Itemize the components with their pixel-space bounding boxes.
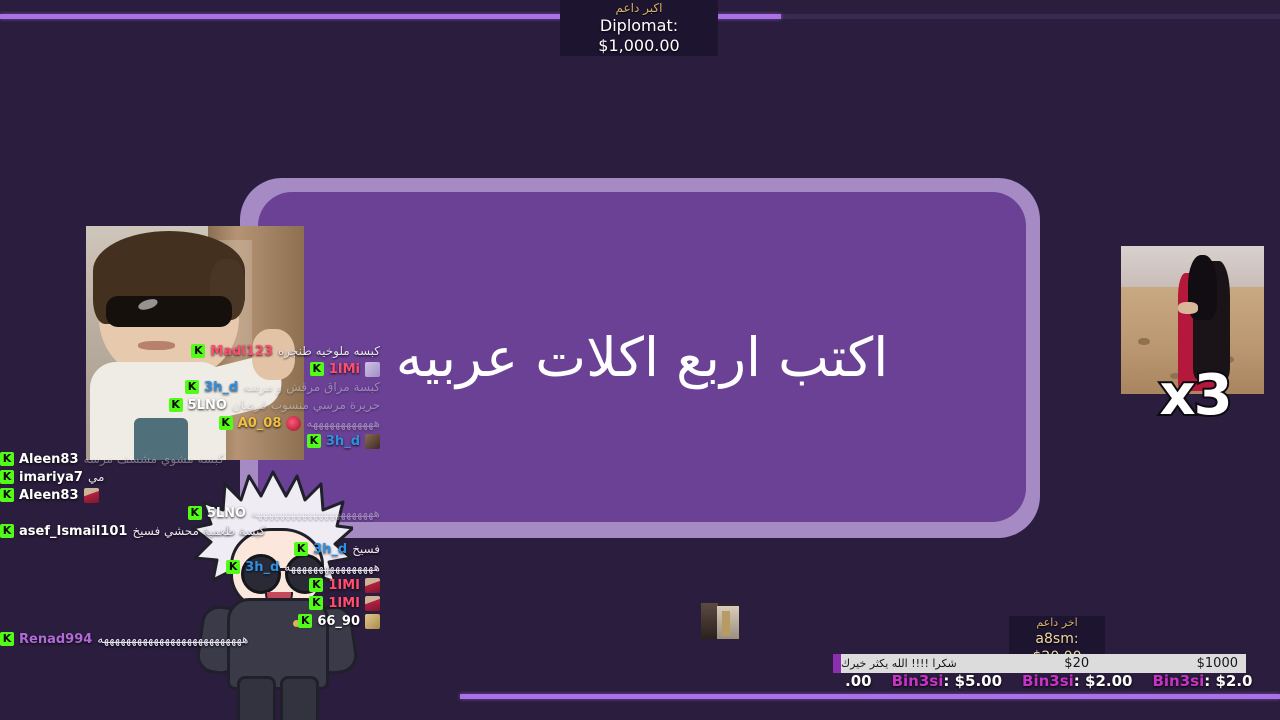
kick-badge-icon: K <box>219 416 233 430</box>
chat-message-text: ههههههههههههههههههههههه <box>251 506 380 520</box>
chat-username[interactable]: 3h_d <box>204 380 238 395</box>
chat-username[interactable]: Madi123 <box>210 344 273 359</box>
chat-username[interactable]: 3h_d <box>245 560 279 575</box>
chat-message-row: K3h_dفسيخ <box>0 540 380 558</box>
chat-message-row: KAleen83 <box>0 486 380 504</box>
ticker-entry: Bin3si: $5.00 <box>892 672 1002 690</box>
ticker-entry: Bin3si: $2.00 <box>1022 672 1132 690</box>
chat-message-row: K1IMI <box>0 576 380 594</box>
top-supporter-value: Diplomat: $1,000.00 <box>560 16 718 56</box>
chat-username[interactable]: Aleen83 <box>19 452 79 467</box>
chat-message-text: كبسة مراق مرقش و مرسه <box>243 380 380 394</box>
chat-message-row: K5LNOحريرة مرسي منسوب قرصان <box>0 396 380 414</box>
chat-username[interactable]: 3h_d <box>326 434 360 449</box>
meme-sunglasses <box>106 296 232 326</box>
kick-badge-icon: K <box>294 542 308 556</box>
last-supporter-title: اخر داعم <box>1009 616 1105 630</box>
chat-message-row: K1IMi <box>0 360 380 378</box>
ticker-donor-name: Bin3si <box>1152 672 1204 690</box>
kick-badge-icon: K <box>298 614 312 628</box>
goal-target: $1000 <box>1197 656 1246 671</box>
kick-badge-icon: K <box>188 506 202 520</box>
chat-message-row: KMadi123كبسه ملوخيه طنجره <box>0 342 380 360</box>
chat-message-row: K3h_dكبسة مراق مرقش و مرسه <box>0 378 380 396</box>
kick-badge-icon: K <box>310 362 324 376</box>
kick-badge-icon: K <box>0 632 14 646</box>
chat-username[interactable]: 1IMi <box>329 362 360 377</box>
chat-message-row: K1IMI <box>0 594 380 612</box>
chat-username[interactable]: 1IMI <box>328 596 360 611</box>
kick-badge-icon: K <box>309 596 323 610</box>
chat-username[interactable]: 66_90 <box>317 614 360 629</box>
chat-username[interactable]: Renad994 <box>19 632 92 647</box>
chat-username[interactable]: 5LNO <box>207 506 246 521</box>
goal-current: $20 <box>957 656 1197 671</box>
chat-username[interactable]: asef_Ismail101 <box>19 524 127 539</box>
kick-badge-icon: K <box>307 434 321 448</box>
ticker-donor-name: Bin3si <box>1022 672 1074 690</box>
chat-message-row: KRenad994ههههههههههههههههههههههههههه <box>0 630 380 648</box>
ticker-amount: : $2.0 <box>1204 672 1252 690</box>
desert-rock-1 <box>1138 338 1149 345</box>
chat-username[interactable]: 3h_d <box>313 542 347 557</box>
chat-message-row: K66_90 <box>0 612 380 630</box>
chat-emote-icon <box>365 578 380 593</box>
chat-username[interactable]: Aleen83 <box>19 488 79 503</box>
bottom-progress-fill <box>460 694 1280 699</box>
chat-emote-icon <box>286 416 301 431</box>
chibi-leg-right <box>280 676 319 720</box>
chat-message-text: فسيخ <box>352 542 380 556</box>
chat-username[interactable]: imariya7 <box>19 470 83 485</box>
ticker-entry: Bin3si: $2.0 <box>1152 672 1252 690</box>
top-supporter-title: اكبر داعم <box>560 1 718 16</box>
stream-overlay-stage: اكبر داعم Diplomat: $1,000.00 اكتب اربع … <box>0 0 1280 720</box>
chat-emote-icon <box>84 488 99 503</box>
ticker-donor-name: Bin3si <box>892 672 944 690</box>
chat-message-row: Kasef_Ismail101كبسة طعمية محشي فسيخ <box>0 522 380 540</box>
chat-message-row: KA0_08ههههههههههههه <box>0 414 380 432</box>
chat-message-row: K3h_d <box>0 432 380 450</box>
chat-message-text: ههههههههههههههههه <box>284 560 380 574</box>
chat-username[interactable]: A0_08 <box>238 416 282 431</box>
desert-figure-hand <box>1178 302 1198 314</box>
ticker-entry: .00 <box>845 672 872 690</box>
chat-message-row: Kimariya7مي <box>0 468 380 486</box>
donation-ticker: .00Bin3si: $5.00Bin3si: $2.00Bin3si: $2.… <box>845 671 1280 691</box>
kick-badge-icon: K <box>185 380 199 394</box>
goal-message: شكرا !!!! الله يكثر خيرك <box>833 657 957 670</box>
mini-thumb-subject <box>722 611 730 636</box>
chat-message-row: K5LNOههههههههههههههههههههههه <box>0 504 380 522</box>
chat-message-row: K3h_dههههههههههههههههه <box>0 558 380 576</box>
kick-badge-icon: K <box>0 524 14 538</box>
chat-message-text: كبسه مشوي مشسف مرسه <box>84 452 224 466</box>
kick-badge-icon: K <box>191 344 205 358</box>
chibi-leg-left <box>237 676 276 720</box>
mini-clip-thumbnail <box>701 603 739 639</box>
kick-badge-icon: K <box>169 398 183 412</box>
ticker-amount: : $5.00 <box>943 672 1002 690</box>
chat-message-text: ههههههههههههههههههههههههههه <box>97 632 248 646</box>
mini-thumb-left <box>701 603 718 639</box>
kick-badge-icon: K <box>226 560 240 574</box>
chat-message-text: كبسه ملوخيه طنجره <box>278 344 380 358</box>
chat-emote-icon <box>365 614 380 629</box>
chat-username[interactable]: 1IMI <box>328 578 360 593</box>
chat-emote-icon <box>365 362 380 377</box>
chat-emote-icon <box>365 596 380 611</box>
kick-badge-icon: K <box>309 578 323 592</box>
kick-badge-icon: K <box>0 488 14 502</box>
chat-message-row: KAleen83كبسه مشوي مشسف مرسه <box>0 450 380 468</box>
prompt-text: اكتب اربع اكلات عربيه <box>366 326 918 389</box>
chat-message-text: كبسة طعمية محشي فسيخ <box>132 524 265 538</box>
ticker-amount: : $2.00 <box>1074 672 1133 690</box>
top-supporter-widget: اكبر داعم Diplomat: $1,000.00 <box>560 0 718 56</box>
chat-message-text: حريرة مرسي منسوب قرصان <box>232 398 380 412</box>
chat-message-text: ههههههههههههه <box>306 416 380 430</box>
chat-overlay[interactable]: KMadi123كبسه ملوخيه طنجرهK1IMiK3h_dكبسة … <box>0 342 380 648</box>
chat-username[interactable]: 5LNO <box>188 398 227 413</box>
kick-badge-icon: K <box>0 452 14 466</box>
chat-emote-icon <box>365 434 380 449</box>
multiplier-label: x3 <box>1140 368 1250 424</box>
ticker-amount: .00 <box>845 672 872 690</box>
kick-badge-icon: K <box>0 470 14 484</box>
chat-message-text: مي <box>88 470 104 484</box>
